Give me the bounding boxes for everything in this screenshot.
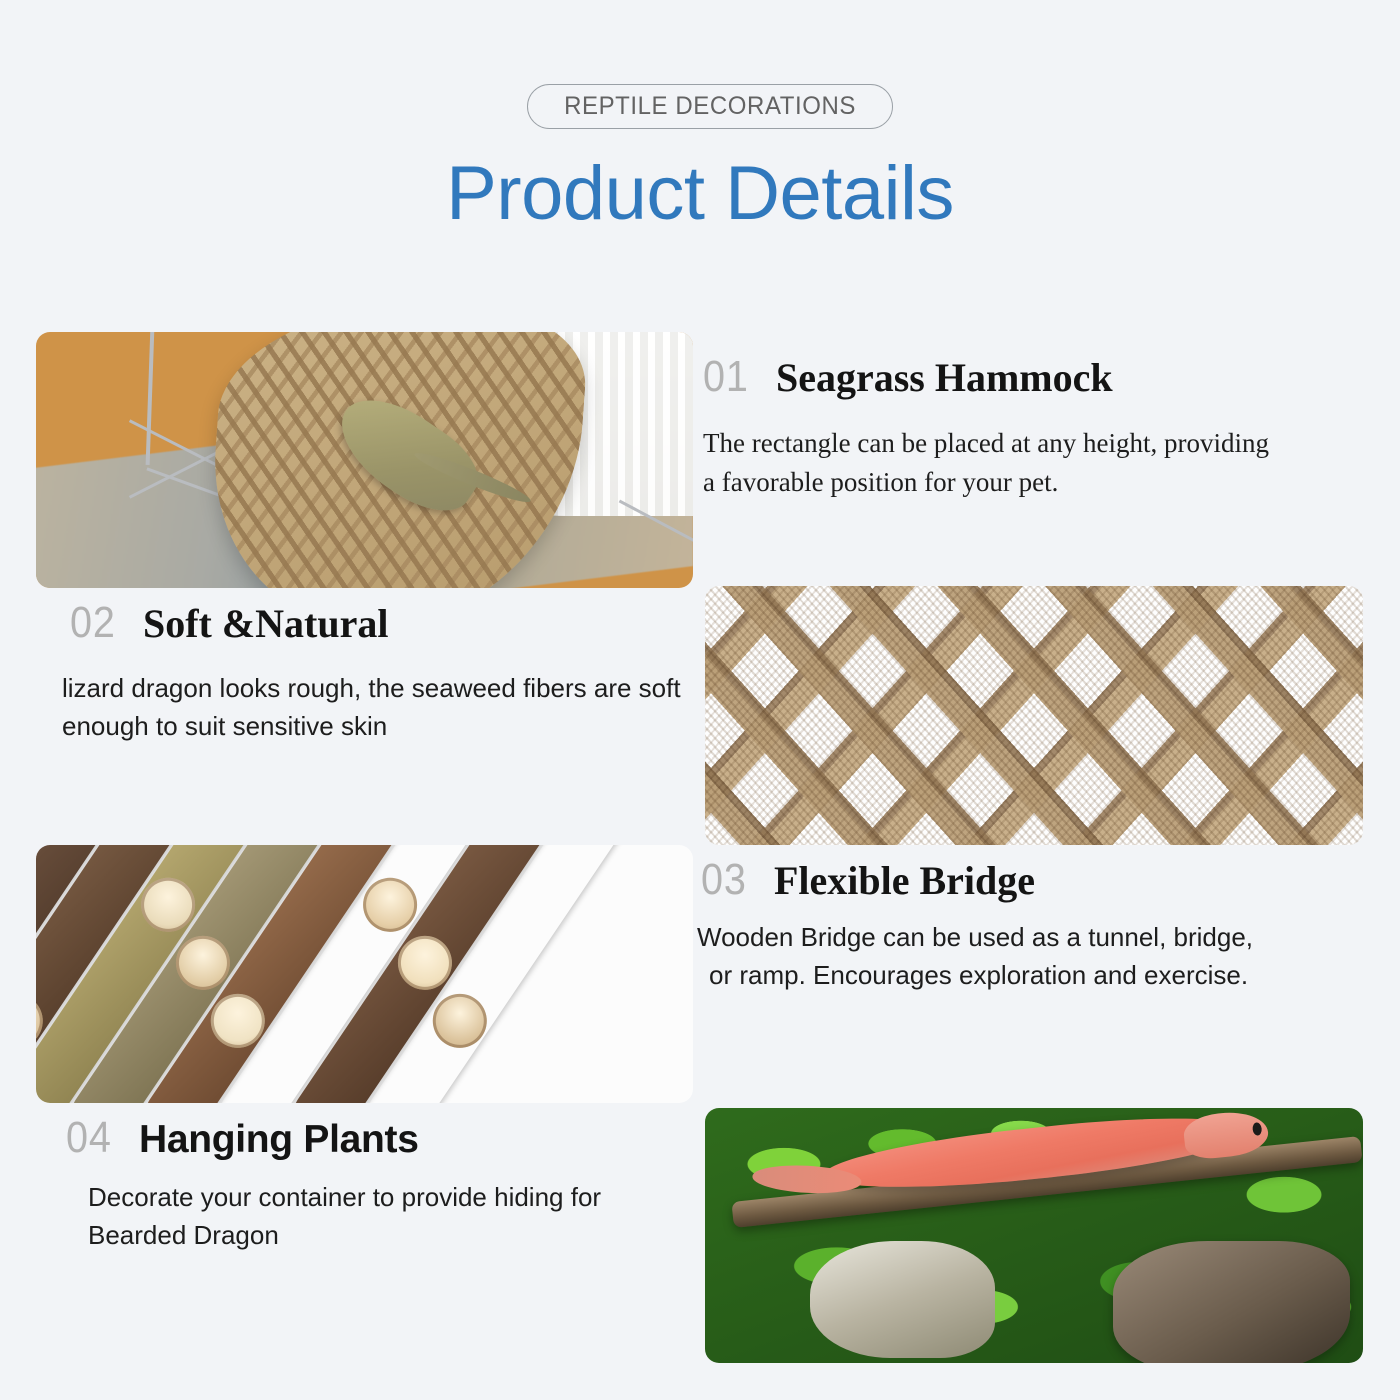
log-group xyxy=(36,845,693,1103)
feature-title: Soft &Natural xyxy=(143,600,389,647)
feature-description-line: or ramp. Encourages exploration and exer… xyxy=(709,957,1297,995)
hammock-scene xyxy=(36,332,693,588)
feature-description-line: Decorate your container to provide hidin… xyxy=(88,1179,686,1217)
category-badge-label: REPTILE DECORATIONS xyxy=(564,92,856,121)
feature-description-line: Wooden Bridge can be used as a tunnel, b… xyxy=(697,919,1297,957)
feature-number: 01 xyxy=(703,352,749,402)
feature-description-line: Bearded Dragon xyxy=(88,1217,686,1255)
feature-description-line: lizard dragon looks rough, the seaweed f… xyxy=(62,670,710,708)
feature-title: Flexible Bridge xyxy=(774,857,1035,904)
feature-heading: 02 Soft &Natural xyxy=(70,598,762,648)
page-title: Product Details xyxy=(0,150,1400,237)
feature-heading: 04 Hanging Plants xyxy=(66,1113,686,1163)
feature-number: 02 xyxy=(70,598,116,648)
wooden-log-bridge-photo xyxy=(36,845,693,1103)
feature-description: Decorate your container to provide hidin… xyxy=(88,1179,686,1255)
feature-description-line: enough to suit sensitive skin xyxy=(62,708,710,746)
feature-description: Wooden Bridge can be used as a tunnel, b… xyxy=(697,919,1297,995)
feature-title: Seagrass Hammock xyxy=(776,354,1113,401)
shell-decoration xyxy=(810,1241,994,1358)
gecko-in-foliage-photo xyxy=(705,1108,1363,1363)
feature-heading: 03 Flexible Bridge xyxy=(701,855,1297,905)
category-badge: REPTILE DECORATIONS xyxy=(527,84,893,129)
feature-heading: 01 Seagrass Hammock xyxy=(703,352,1343,402)
feature-title: Hanging Plants xyxy=(139,1118,419,1162)
feature-description-line: The rectangle can be placed at any heigh… xyxy=(703,424,1343,463)
feature-block-02: 02 Soft &Natural lizard dragon looks rou… xyxy=(62,598,762,746)
driftwood-decoration xyxy=(1113,1241,1350,1363)
feature-description-line: a favorable position for your pet. xyxy=(703,463,1343,502)
gecko-eye xyxy=(1253,1123,1263,1137)
feature-block-03: 03 Flexible Bridge Wooden Bridge can be … xyxy=(697,855,1297,995)
rope-fiber-texture xyxy=(705,586,1363,845)
feature-description: lizard dragon looks rough, the seaweed f… xyxy=(62,670,710,746)
feature-block-01: 01 Seagrass Hammock The rectangle can be… xyxy=(703,352,1343,503)
seagrass-hammock-photo xyxy=(36,332,693,588)
feature-description: The rectangle can be placed at any heigh… xyxy=(703,424,1343,503)
feature-number: 04 xyxy=(66,1113,112,1163)
feature-block-04: 04 Hanging Plants Decorate your containe… xyxy=(66,1113,686,1255)
feature-number: 03 xyxy=(701,855,747,905)
seagrass-weave-closeup-photo xyxy=(705,586,1363,845)
